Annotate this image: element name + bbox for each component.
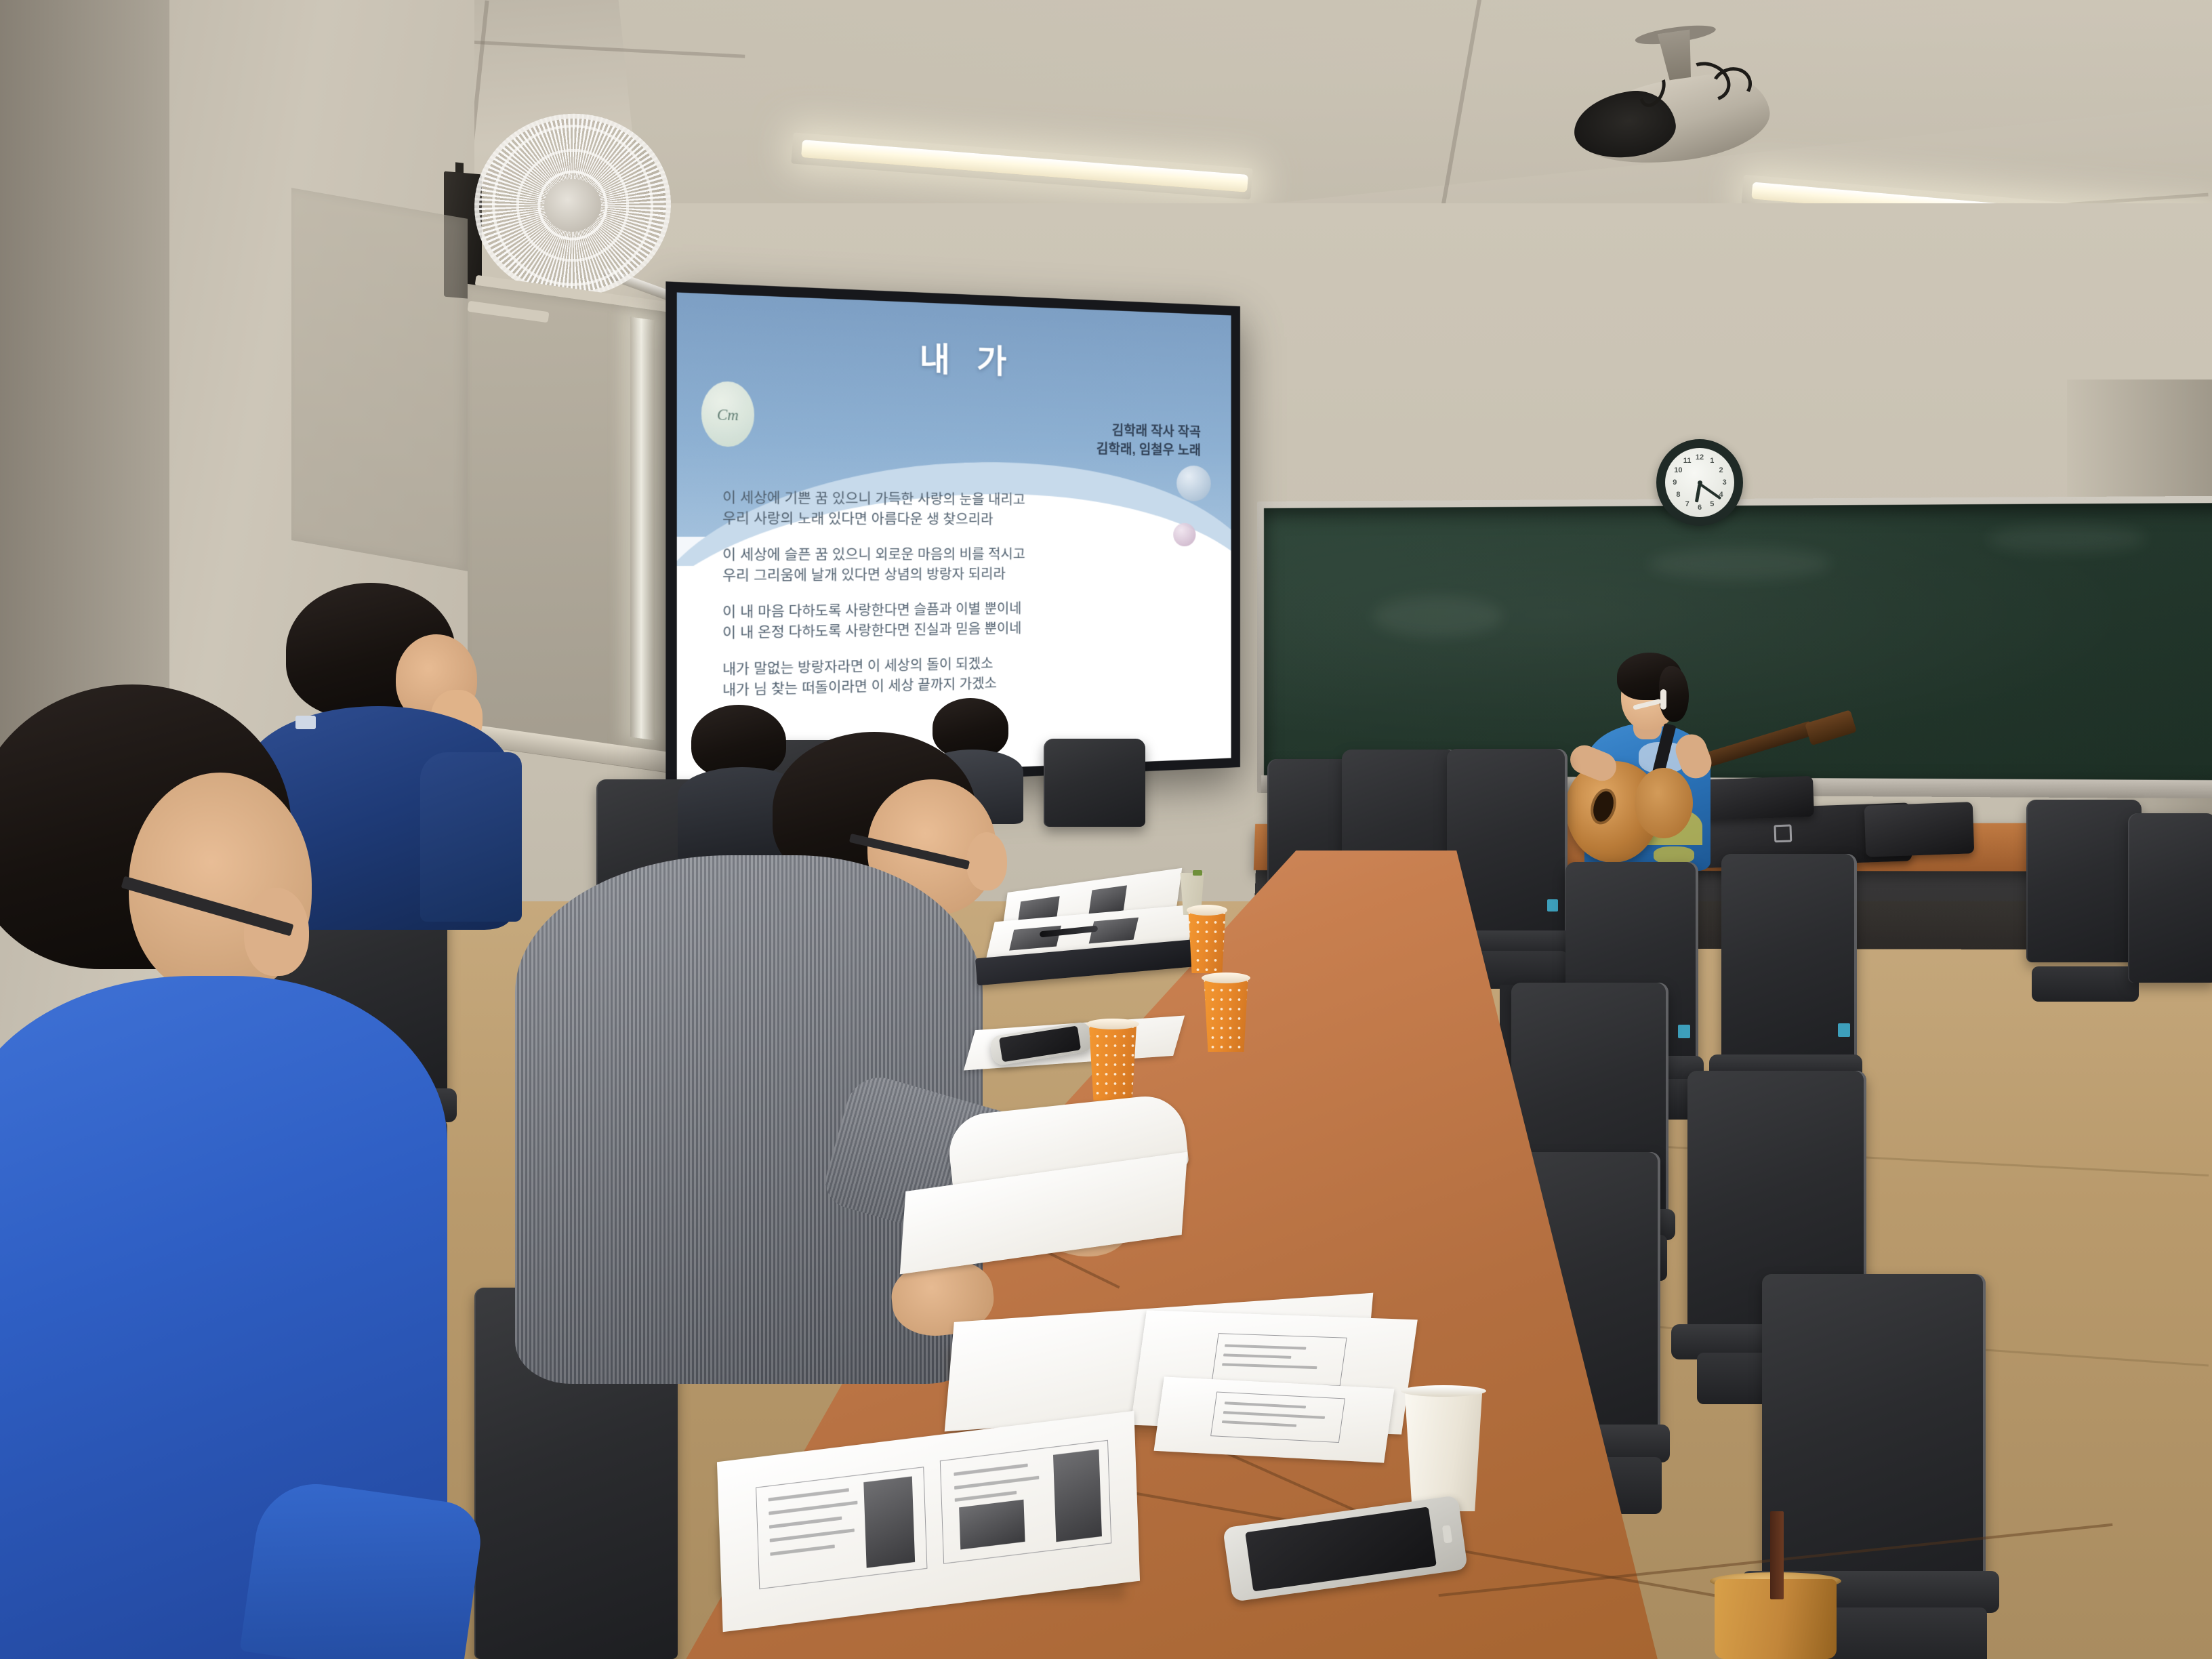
slide-credit-line-2: 김학래, 임철우 노래 [1097,441,1201,461]
clock-minute-hand [1699,483,1721,499]
clock-numeral: 8 [1676,491,1680,499]
wall-fan[interactable] [466,104,680,307]
lyric-line: 우리 사랑의 노래 있다면 아름다운 생 찾으리라 [722,510,1208,531]
clock-center-pin [1698,480,1702,485]
clock-numeral: 6 [1698,504,1702,512]
lyric-stanza: 내가 말없는 방랑자라면 이 세상의 돌이 되겠소 내가 님 찾는 떠돌이라면 … [722,650,1208,703]
lyric-stanza: 이 내 마음 다하도록 사랑한다면 슬픔과 이별 뿐이네 이 내 온정 다하도록… [722,597,1208,645]
case-buckle [1774,824,1792,842]
slide-lyrics: 이 세상에 기쁜 꿈 있으니 가득한 사랑의 눈을 내리고 우리 사랑의 노래 … [722,488,1208,717]
clock-numeral: 11 [1683,457,1692,465]
clock-numeral: 12 [1696,453,1704,462]
clock-numeral: 9 [1673,478,1677,487]
clock-numeral: 10 [1674,466,1682,474]
window-light-gap [630,316,655,740]
chair-sticker [1547,899,1558,912]
chair-sticker [1678,1025,1690,1038]
guitar-waist [1635,768,1693,838]
orange-paper-cup[interactable] [1084,1022,1141,1101]
white-paper-cup[interactable] [1396,1389,1491,1511]
clock-numeral: 5 [1710,500,1714,508]
performer [1559,647,1776,871]
clock-numeral: 3 [1723,478,1727,487]
printed-handout[interactable] [1154,1376,1395,1462]
slide-credit-line-1: 김학래 작사 작곡 [1097,421,1201,442]
attendee-gray-check [515,732,1003,1443]
ceiling-projector [1562,19,1783,185]
lyric-stanza: 이 세상에 기쁜 꿈 있으니 가득한 사랑의 눈을 내리고 우리 사랑의 노래 … [722,488,1208,531]
headset-mic-boom [1660,689,1666,710]
iced-drink-cup[interactable] [1715,1579,1837,1659]
equipment-bag [1864,802,1975,857]
slide-logo-text: Cm [717,407,739,424]
wall-clock: 12 1 2 3 4 5 6 7 8 9 10 11 [1656,439,1743,526]
orange-paper-cup[interactable] [1185,908,1229,973]
lyric-line: 우리 그리움에 날개 있다면 상념의 방랑자 되리라 [722,565,1208,588]
attendee-front-blue [0,684,515,1659]
straw [1770,1511,1784,1599]
lyric-line: 이 세상에 슬픈 꿈 있으니 외로운 마음의 비를 적시고 [722,545,1208,567]
clock-numeral: 1 [1710,457,1714,465]
chair-sticker [1838,1023,1850,1037]
lyric-line: 이 세상에 기쁜 꿈 있으니 가득한 사랑의 눈을 내리고 [722,488,1208,512]
photo-scene: 12 1 2 3 4 5 6 7 8 9 10 11 Cm [0,0,2212,1659]
clock-numeral: 2 [1719,466,1723,474]
slide-credits: 김학래 작사 작곡 김학래, 임철우 노래 [1097,421,1201,461]
clock-hour-hand [1695,484,1702,502]
clock-face: 12 1 2 3 4 5 6 7 8 9 10 11 [1665,448,1734,517]
clock-numeral: 7 [1685,500,1689,508]
orange-paper-cup[interactable] [1200,976,1252,1052]
roller-blind[interactable] [291,188,468,571]
lyric-stanza: 이 세상에 슬픈 꿈 있으니 외로운 마음의 비를 적시고 우리 그리움에 날개… [722,545,1208,588]
slide-logo-badge: Cm [701,381,754,447]
